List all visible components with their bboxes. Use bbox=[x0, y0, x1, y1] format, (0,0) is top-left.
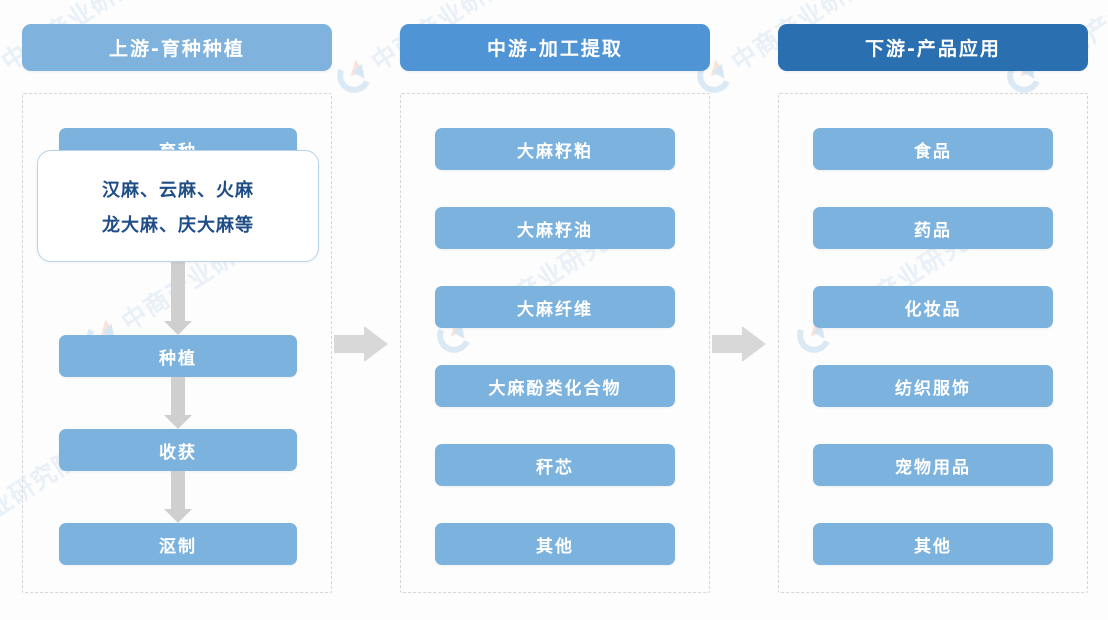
step-retting[interactable]: 沤制 bbox=[59, 523, 297, 565]
list-item[interactable]: 秆芯 bbox=[435, 444, 675, 486]
column-body-midstream: 大麻籽粕 大麻籽油 大麻纤维 大麻酚类化合物 秆芯 其他 bbox=[400, 93, 710, 593]
column-header-downstream: 下游-产品应用 bbox=[778, 24, 1088, 71]
list-item[interactable]: 大麻籽油 bbox=[435, 207, 675, 249]
flow-arrow-down-icon bbox=[171, 254, 185, 335]
list-item[interactable]: 药品 bbox=[813, 207, 1053, 249]
stage-arrow-right-icon bbox=[712, 326, 766, 362]
flow-arrow-down-icon bbox=[171, 471, 185, 523]
step-planting[interactable]: 种植 bbox=[59, 335, 297, 377]
column-header-midstream: 中游-加工提取 bbox=[400, 24, 710, 71]
list-item[interactable]: 化妆品 bbox=[813, 286, 1053, 328]
step-harvest[interactable]: 收获 bbox=[59, 429, 297, 471]
column-body-upstream: 育种 汉麻、云麻、火麻 龙大麻、庆大麻等 种植 收获 沤制 bbox=[22, 93, 332, 593]
column-downstream: 下游-产品应用 食品 药品 化妆品 纺织服饰 宠物用品 其他 bbox=[778, 24, 1088, 593]
list-item[interactable]: 食品 bbox=[813, 128, 1053, 170]
list-item[interactable]: 纺织服饰 bbox=[813, 365, 1053, 407]
column-upstream: 上游-育种种植 育种 汉麻、云麻、火麻 龙大麻、庆大麻等 种植 收获 bbox=[22, 24, 332, 593]
diagram-canvas: 中商产业研究院 中商产业研究院 中商产业研究院 中商产业研究院 中商产业研究院 … bbox=[0, 0, 1108, 620]
flow-arrow-down-icon bbox=[171, 377, 185, 429]
column-midstream: 中游-加工提取 大麻籽粕 大麻籽油 大麻纤维 大麻酚类化合物 秆芯 其他 bbox=[400, 24, 710, 593]
breeding-varieties-callout: 汉麻、云麻、火麻 龙大麻、庆大麻等 bbox=[37, 150, 319, 262]
column-body-downstream: 食品 药品 化妆品 纺织服饰 宠物用品 其他 bbox=[778, 93, 1088, 593]
varieties-line-1: 汉麻、云麻、火麻 bbox=[102, 176, 254, 202]
list-item[interactable]: 宠物用品 bbox=[813, 444, 1053, 486]
list-item[interactable]: 其他 bbox=[813, 523, 1053, 565]
industry-chain-board: 上游-育种种植 育种 汉麻、云麻、火麻 龙大麻、庆大麻等 种植 收获 bbox=[0, 0, 1108, 620]
list-item[interactable]: 其他 bbox=[435, 523, 675, 565]
column-header-upstream: 上游-育种种植 bbox=[22, 24, 332, 71]
list-item[interactable]: 大麻纤维 bbox=[435, 286, 675, 328]
list-item[interactable]: 大麻酚类化合物 bbox=[435, 365, 675, 407]
varieties-line-2: 龙大麻、庆大麻等 bbox=[102, 211, 254, 237]
stage-arrow-right-icon bbox=[334, 326, 388, 362]
list-item[interactable]: 大麻籽粕 bbox=[435, 128, 675, 170]
